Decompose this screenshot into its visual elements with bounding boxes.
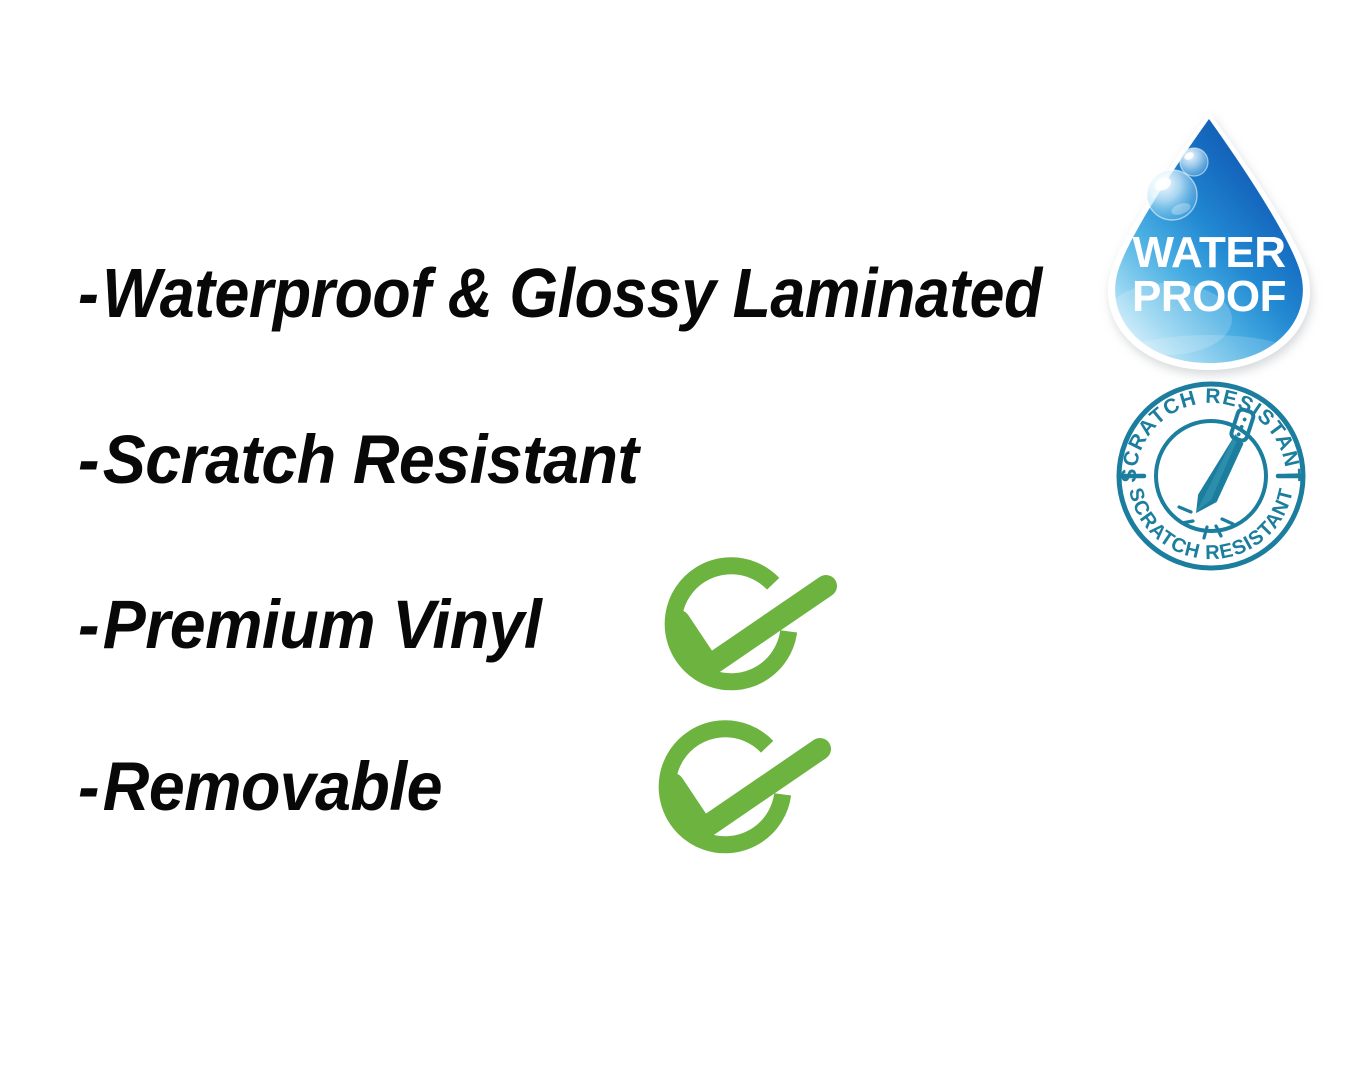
waterproof-line1-text: WATER (1132, 228, 1285, 277)
check-tick (673, 749, 820, 829)
scratch-impact-lines (1179, 507, 1233, 538)
feature-item-removable: -Removable (78, 752, 442, 821)
feature-dash: - (78, 425, 99, 494)
knife-blade-highlight (1197, 431, 1239, 515)
waterproof-line2-text: PROOF (1132, 272, 1286, 321)
waterproof-droplet-badge: WATER PROOF (1096, 105, 1322, 373)
feature-dash: - (78, 258, 98, 328)
stamp-arc-text-top: SCRATCH RESISTANT (1118, 385, 1304, 483)
check-circle-icon (630, 716, 830, 876)
scratch-resistant-stamp-badge: SCRATCH RESISTANT SCRATCH RESISTANT (1114, 380, 1308, 572)
product-feature-graphic: -Waterproof & Glossy Laminated -Scratch … (0, 0, 1359, 1080)
feature-label: Premium Vinyl (103, 586, 541, 663)
droplet-bubble-large (1147, 170, 1197, 220)
feature-item-waterproof-glossy-laminated: -Waterproof & Glossy Laminated (78, 258, 1042, 328)
feature-label: Waterproof & Glossy Laminated (102, 254, 1042, 332)
feature-label: Scratch Resistant (103, 421, 638, 498)
droplet-bubble-small (1180, 148, 1208, 176)
green-check-icon-2 (630, 716, 830, 876)
check-tick (679, 586, 826, 666)
feature-label: Removable (103, 748, 442, 825)
green-check-icon-1 (636, 553, 836, 713)
check-circle-icon (636, 553, 836, 713)
feature-dash: - (78, 752, 99, 821)
scratch-resistant-stamp-icon: SCRATCH RESISTANT SCRATCH RESISTANT (1114, 380, 1308, 572)
feature-item-premium-vinyl: -Premium Vinyl (78, 590, 541, 659)
waterproof-droplet-icon: WATER PROOF (1096, 105, 1322, 373)
feature-dash: - (78, 590, 99, 659)
feature-item-scratch-resistant: -Scratch Resistant (78, 425, 638, 494)
